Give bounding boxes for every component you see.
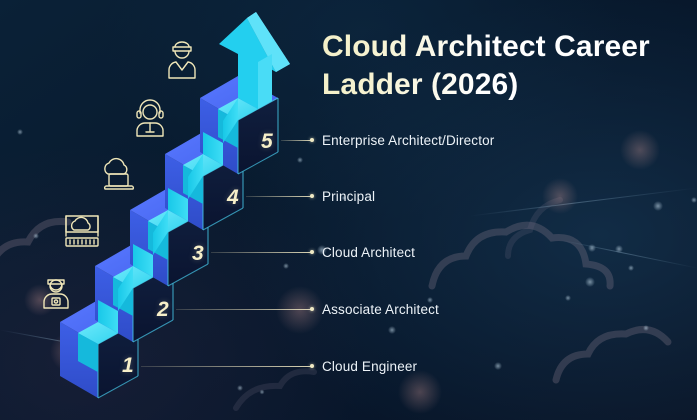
connector-dot-5 xyxy=(310,138,314,142)
step-label-2: Associate Architect xyxy=(322,302,439,317)
infographic-canvas: 1 2 3 4 5 Clo xyxy=(0,0,697,420)
title-line-2: Ladder (2026) xyxy=(322,66,672,104)
step-number-4: 4 xyxy=(227,186,239,210)
headset-person-icon xyxy=(128,96,172,140)
capped-person-icon xyxy=(160,34,204,82)
connector-dot-3 xyxy=(310,250,314,254)
step-number-5: 5 xyxy=(261,130,273,154)
step-number-2: 2 xyxy=(157,298,169,322)
step-number-1: 1 xyxy=(122,354,134,378)
step-label-4: Principal xyxy=(322,189,375,204)
page-title: Cloud Architect Career Ladder (2026) xyxy=(322,28,672,104)
step-label-1: Cloud Engineer xyxy=(322,359,417,374)
connector-line-2 xyxy=(176,309,311,310)
title-line-1: Cloud Architect Career xyxy=(322,28,672,66)
connector-line-1 xyxy=(141,366,311,367)
step-number-3: 3 xyxy=(192,242,204,266)
step-label-3: Cloud Architect xyxy=(322,245,415,260)
connector-line-4 xyxy=(246,196,311,197)
cloud-server-rack-icon xyxy=(58,208,106,252)
cloud-laptop-icon xyxy=(96,152,142,196)
connector-line-3 xyxy=(211,252,311,253)
connector-dot-4 xyxy=(310,194,314,198)
connector-dot-2 xyxy=(310,307,314,311)
connector-line-5 xyxy=(281,140,311,141)
connector-dot-1 xyxy=(310,364,314,368)
engineer-person-icon xyxy=(34,268,78,312)
step-label-5: Enterprise Architect/Director xyxy=(322,133,494,148)
